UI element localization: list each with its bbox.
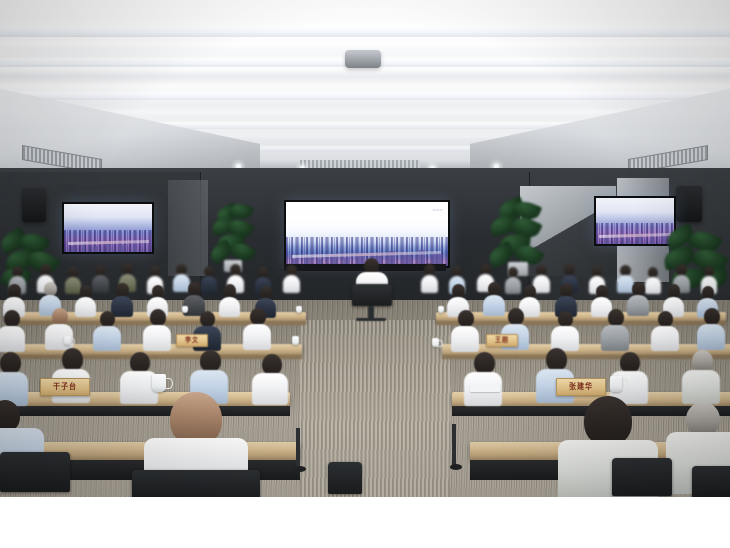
wall-label-right: ଍ ଍	[704, 198, 707, 204]
left-led-panel[interactable]	[62, 202, 154, 254]
chair-leg	[452, 424, 456, 468]
wall-speaker-left	[22, 188, 46, 222]
chair	[692, 466, 730, 497]
name-card: 李文	[176, 334, 208, 347]
name-card: 王刚	[486, 334, 518, 347]
cup	[432, 338, 439, 347]
chair-caster	[450, 464, 462, 470]
cup-with-handle	[152, 374, 166, 392]
paper-document	[470, 384, 500, 392]
page-margin-bottom	[0, 497, 730, 548]
ceiling-light-strip-1	[0, 26, 730, 37]
cup	[64, 336, 71, 345]
ceiling-air-vent-center	[300, 160, 420, 168]
cup	[610, 376, 622, 392]
ceiling-light-strip-3	[0, 92, 730, 100]
main-screen-logo: ▱▱▱	[433, 207, 443, 212]
conference-room-photograph: ଍ ଍ ଍ ଍	[0, 0, 730, 497]
chair	[328, 462, 362, 494]
attendee-row-3	[0, 308, 730, 348]
chair-leg	[296, 428, 300, 468]
chair	[612, 458, 672, 496]
screenshot-canvas: ଍ ଍ ଍ ଍	[0, 0, 730, 548]
chair-caster	[294, 466, 306, 472]
ceiling-speaker-icon	[345, 50, 381, 68]
wall-speaker-right	[676, 186, 702, 222]
chair	[0, 452, 70, 492]
cup	[292, 336, 299, 345]
